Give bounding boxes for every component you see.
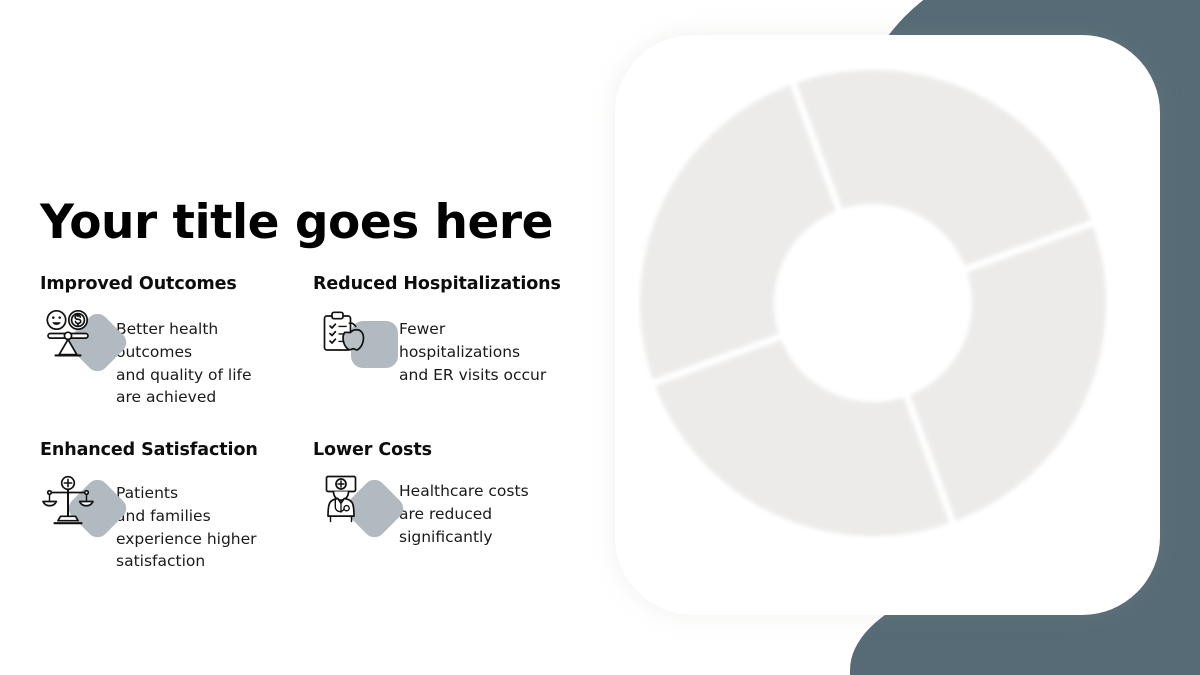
benefit-cell-lower-costs: Lower Costs [313,438,588,548]
benefit-text: Better health outcomes and quality of li… [112,296,252,409]
benefit-heading: Lower Costs [313,438,588,462]
clipboard-apple-icon [317,308,377,368]
benefit-cell-enhanced-satisfaction: Enhanced Satisfaction [40,438,315,573]
benefit-heading: Reduced Hospitalizations [313,272,588,296]
decorative-graphic [600,0,1200,675]
icon-container [40,306,112,372]
icon-container [40,472,112,538]
icon-container [317,472,389,538]
benefit-heading: Enhanced Satisfaction [40,438,315,462]
benefit-body: Healthcare costs are reduced significant… [313,462,588,548]
benefit-cell-reduced-hospitalizations: Reduced Hospitalizations Fewer [313,272,588,386]
donut-chart [638,68,1108,538]
benefit-text: Patients and families experience higher … [112,462,257,573]
scales-medical-cross-icon [40,472,100,532]
slide: Your title goes here Improved Outcomes [0,0,1200,675]
benefit-text: Fewer hospitalizations and ER visits occ… [389,298,546,386]
benefit-body: Fewer hospitalizations and ER visits occ… [313,298,588,386]
benefit-text: Healthcare costs are reduced significant… [389,462,529,548]
benefit-body: Patients and families experience higher … [40,462,315,573]
page-title: Your title goes here [40,195,553,250]
content-area: Your title goes here Improved Outcomes [0,0,600,675]
benefit-heading: Improved Outcomes [40,272,315,296]
balance-smiley-coin-icon [40,306,100,366]
benefit-body: Better health outcomes and quality of li… [40,296,315,409]
doctor-stethoscope-icon [317,472,377,532]
icon-container [317,308,389,374]
benefit-cell-improved-outcomes: Improved Outcomes [40,272,315,409]
